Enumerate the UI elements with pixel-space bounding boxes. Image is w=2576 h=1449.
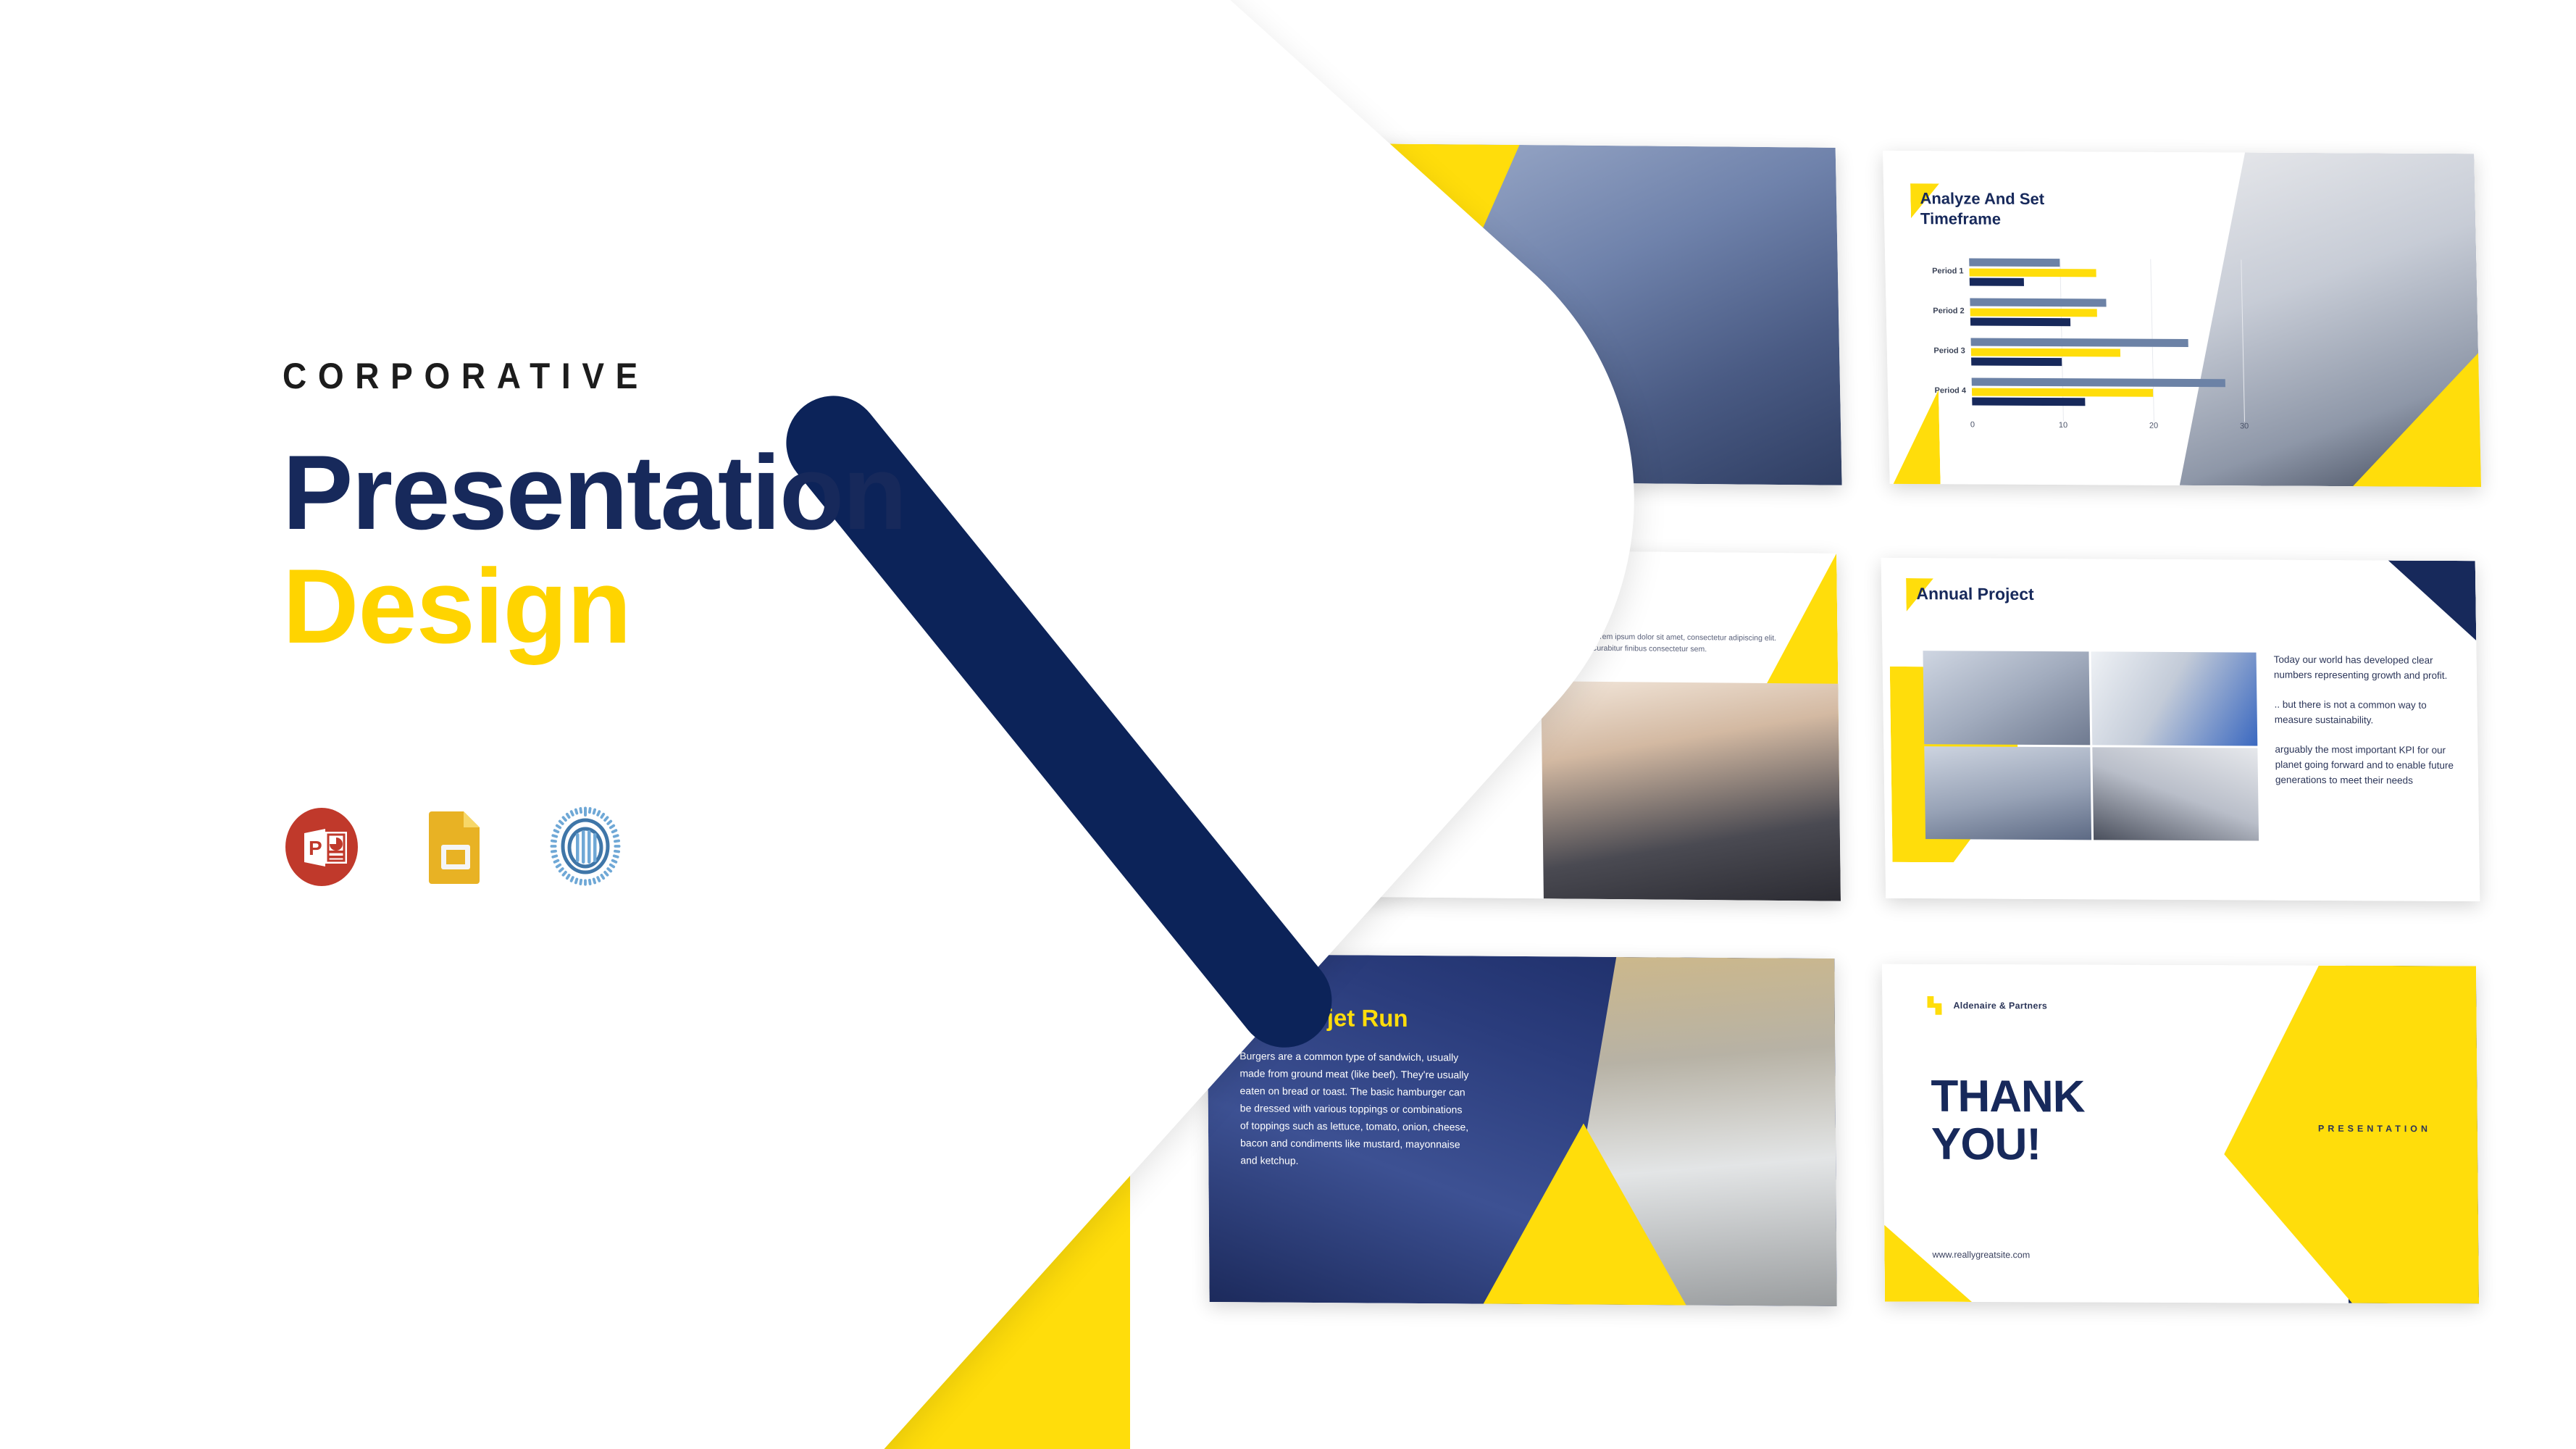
chart-bar (1972, 377, 2225, 387)
thank-you-line1: THANK (1931, 1073, 2085, 1121)
chart-bar (1970, 317, 2070, 326)
chart-x-tick: 10 (2059, 421, 2068, 430)
chart-bar (1971, 357, 2062, 366)
annual-text-column: Today our world has developed clear numb… (2274, 653, 2461, 789)
thank-you-brand: Aldenaire & Partners (1953, 1001, 2047, 1011)
chart-bar (1972, 397, 2086, 406)
timeframe-bar-chart: Period 1Period 2Period 3Period 40102030 (1910, 258, 2275, 441)
chart-row: Period 4 (1912, 377, 2275, 412)
photo-project-management (2091, 651, 2257, 746)
chart-x-axis: 0102030 (1973, 420, 2276, 440)
chart-category-label: Period 3 (1912, 346, 1965, 355)
google-slides-icon[interactable] (414, 806, 495, 887)
chart-x-tick: 20 (2149, 422, 2159, 430)
thank-you-side-label: PRESENTATION (2318, 1124, 2431, 1135)
annual-paragraph-3: arguably the most important KPI for our … (2275, 742, 2460, 788)
chart-category-label: Period 2 (1911, 306, 1965, 315)
chart-row: Period 3 (1911, 338, 2274, 372)
poster-canvas: g Analyze And Set Timeframe Period 1Peri… (0, 0, 2576, 1449)
slide-annual-title: Annual Project (1916, 584, 2034, 604)
chart-x-tick: 0 (1970, 420, 1975, 429)
analyze-title-line2: Timeframe (1920, 209, 2045, 229)
slide-analyze-title: Analyze And Set Timeframe (1920, 188, 2045, 229)
chart-row: Period 1 (1910, 258, 2272, 292)
chart-bar (1972, 388, 2153, 396)
photo-meeting (1923, 651, 2089, 745)
slide-analyze[interactable]: Analyze And Set Timeframe Period 1Period… (1883, 151, 2481, 487)
hero-kicker: CORPORATIVE (283, 355, 856, 397)
slide-annual[interactable]: Annual Project Today our world has devel… (1881, 558, 2480, 901)
annual-photo-grid (1923, 651, 2259, 840)
chart-bar (1970, 308, 2097, 317)
chart-bar (1971, 348, 2121, 356)
format-icons-row: P (284, 806, 626, 887)
photo-desk-review (1924, 746, 2091, 840)
annual-paragraph-2: .. but there is not a common way to meas… (2274, 698, 2459, 729)
thank-you-title: THANK YOU! (1931, 1073, 2085, 1169)
hero-text-block: CORPORATIVE Presentation Design (283, 355, 906, 661)
chart-bar (1969, 268, 2096, 277)
photo-clipboard-laptop (2092, 747, 2259, 841)
brand-mark-icon (1927, 996, 1941, 1015)
slide-team-quote: Lorem ipsum dolor sit amet, consectetur … (1591, 631, 1779, 656)
annual-paragraph-1: Today our world has developed clear numb… (2274, 653, 2459, 684)
thank-you-brand-row: Aldenaire & Partners (1927, 996, 2047, 1016)
chart-bar (1969, 258, 2059, 267)
slide-thank-you[interactable]: Aldenaire & Partners THANK YOU! PRESENTA… (1882, 964, 2479, 1304)
chart-bar (1970, 338, 2188, 347)
powerpoint-icon[interactable]: P (284, 806, 365, 887)
chart-bar (1970, 277, 2024, 285)
thank-you-website[interactable]: www.reallygreatsite.com (1932, 1250, 2030, 1260)
hero-title-presentation: Presentation (283, 439, 906, 547)
chart-category-label: Period 1 (1910, 267, 1963, 275)
slide-projet-run-body: Burgers are a common type of sandwich, u… (1239, 1047, 1472, 1171)
chart-x-tick: 30 (2240, 422, 2249, 430)
chart-bar (1970, 298, 2106, 306)
svg-text:P: P (309, 837, 322, 859)
thank-you-line2: YOU! (1931, 1121, 2086, 1169)
chart-row: Period 2 (1910, 298, 2273, 332)
canva-icon[interactable] (545, 806, 626, 887)
chart-category-label: Period 4 (1912, 386, 1966, 395)
analyze-title-line1: Analyze And Set (1920, 188, 2044, 209)
hero-title-design: Design (283, 553, 906, 661)
